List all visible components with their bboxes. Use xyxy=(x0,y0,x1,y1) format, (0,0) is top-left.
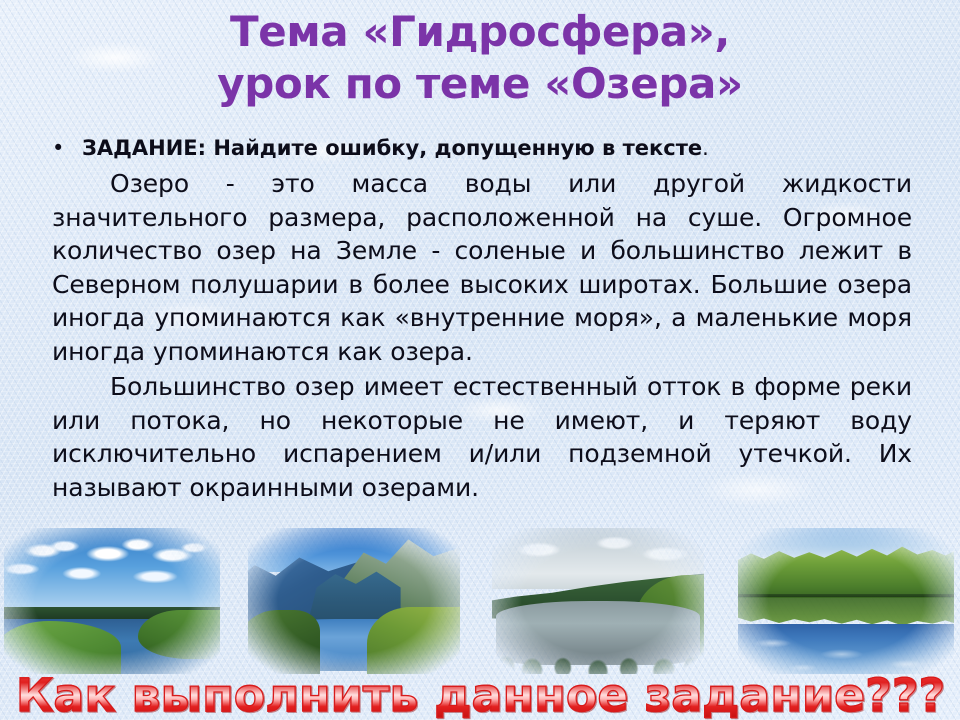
photo-strip xyxy=(0,528,960,678)
right-foreground-layer xyxy=(367,607,460,674)
left-bank-layer xyxy=(4,621,121,674)
title-line-1: Тема «Гидросфера», xyxy=(0,6,960,58)
photo-lake-wide xyxy=(4,528,220,674)
photo-forest-lake xyxy=(492,528,704,674)
slide-body: • ЗАДАНИЕ: Найдите ошибку, допущенную в … xyxy=(52,133,912,504)
photo-mirror-lake-scene xyxy=(738,528,954,674)
task-bullet-period: . xyxy=(702,136,709,160)
bottom-banner: Как выполнить данное задание??? xyxy=(0,672,960,720)
paragraph-1: Озеро - это масса воды или другой жидкос… xyxy=(52,167,912,368)
left-foreground-layer xyxy=(248,610,320,674)
photo-mountain-lake-scene xyxy=(248,528,460,674)
photo-mountain-lake xyxy=(248,528,460,674)
bullet-marker-icon: • xyxy=(52,133,82,163)
paragraph-2: Большинство озер имеет естественный отто… xyxy=(52,370,912,504)
task-bullet-text: ЗАДАНИЕ: Найдите ошибку, допущенную в те… xyxy=(82,133,912,163)
presentation-slide: Тема «Гидросфера», урок по теме «Озера» … xyxy=(0,0,960,720)
task-bullet-item: • ЗАДАНИЕ: Найдите ошибку, допущенную в … xyxy=(52,133,912,163)
cloud-reflection-layer xyxy=(738,630,954,674)
title-line-2: урок по теме «Озера» xyxy=(0,58,960,110)
photo-mirror-lake xyxy=(738,528,954,674)
slide-title: Тема «Гидросфера», урок по теме «Озера» xyxy=(0,6,960,110)
clouds-layer xyxy=(4,531,220,607)
photo-forest-lake-scene xyxy=(492,528,704,674)
task-bullet-bold: ЗАДАНИЕ: Найдите ошибку, допущенную в те… xyxy=(82,136,702,160)
photo-lake-wide-scene xyxy=(4,528,220,674)
banner-question-text: Как выполнить данное задание??? xyxy=(15,672,944,720)
